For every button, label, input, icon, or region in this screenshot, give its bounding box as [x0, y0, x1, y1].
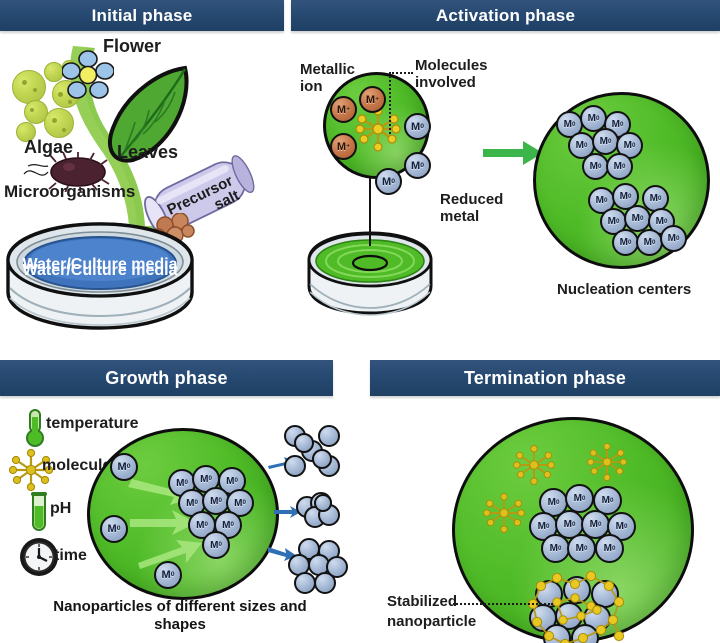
- precursor-salt-label: Precursor salt: [168, 170, 175, 171]
- reduced-metal-atom: M0: [660, 225, 687, 252]
- leaves-label: Leaves: [117, 142, 178, 162]
- molecules-involved-leader-horizontal: [389, 72, 413, 74]
- molecule-cluster-icon: [513, 444, 555, 486]
- molecule-cluster-icon: [587, 442, 627, 482]
- algae-label: Algae: [24, 137, 73, 157]
- legend-ph-label: pH: [50, 500, 71, 518]
- reduced-metal-atom: M0: [636, 229, 663, 256]
- reduced-metal-label: Reduced metal: [440, 192, 516, 226]
- reduced-metal-atom: M0: [100, 515, 128, 543]
- nanoparticle-subunit: [314, 494, 332, 512]
- nanoparticle-subunit: [314, 572, 336, 594]
- molecules-involved-label: Molecules involved: [415, 58, 525, 92]
- reduced-metal-atom: M0: [624, 205, 651, 232]
- metallic-ion-atom: M+: [330, 133, 357, 160]
- reduced-metal-atom: M0: [606, 153, 633, 180]
- capping-molecules-icon: [523, 568, 635, 643]
- reduced-metal-atom: M0: [375, 168, 402, 195]
- nanoparticle-subunit: [294, 572, 316, 594]
- panel-header-growth-phase-label: Growth phase: [105, 368, 227, 389]
- figure-canvas: Initial phase Activation phase Growth ph…: [0, 0, 720, 643]
- legend-time-label: time: [54, 547, 87, 565]
- nanoparticle-hexagonal-cluster: [288, 538, 346, 596]
- reduced-metal-atom: M0: [612, 229, 639, 256]
- panel-header-initial-phase-label: Initial phase: [92, 6, 193, 26]
- droplet-connector-stick: [369, 168, 371, 246]
- nanoparticle-star-cluster: [284, 425, 344, 477]
- reduced-metal-atom: M0: [567, 534, 596, 563]
- reduced-metal-atom: M0: [582, 153, 609, 180]
- nanoparticle-compact-cluster: [296, 492, 340, 530]
- reduced-metal-atom: M0: [404, 113, 431, 140]
- reduced-metal-atom: M0: [565, 484, 594, 513]
- panel-header-termination-phase: Termination phase: [370, 360, 720, 396]
- nanoparticle-subunit: [318, 425, 340, 447]
- nanoparticle-subunit: [312, 449, 332, 469]
- thermometer-icon: [25, 408, 45, 448]
- flower-label: Flower: [103, 36, 161, 56]
- molecules-involved-leader: [389, 72, 391, 134]
- green-droplet-icon: M0 M0 M0 M0 M0 M0 M0 M0 M0 M0: [452, 417, 694, 643]
- metallic-ion-atom: M+: [359, 86, 386, 113]
- panel-header-initial-phase: Initial phase: [0, 0, 284, 31]
- reduced-metal-atom: M0: [110, 453, 138, 481]
- metallic-ion-label: Metallic ion: [300, 62, 362, 96]
- molecule-cluster-icon: [483, 492, 525, 534]
- panel-header-activation-phase: Activation phase: [291, 0, 720, 31]
- reduced-metal-atom: M0: [592, 128, 619, 155]
- microorganisms-label: Microorganisms: [4, 182, 135, 201]
- nucleation-centers-circle: M0 M0 M0 M0 M0 M0 M0 M0 M0 M0 M0 M0 M0 M…: [533, 92, 710, 269]
- nucleation-centers-label: Nucleation centers: [557, 282, 691, 299]
- green-droplet-icon: M0 M0 M0 M0 M0 M0 M0 M0 M0 M0 M0 M0: [87, 428, 279, 600]
- reduced-metal-atom: M0: [541, 534, 570, 563]
- panel-header-growth-phase: Growth phase: [0, 360, 333, 396]
- reduced-metal-atom: M0: [202, 531, 230, 559]
- petri-dish-icon: Water/Culture media: [2, 222, 198, 332]
- reduced-metal-atom: M0: [404, 152, 431, 179]
- test-tube-icon: [30, 492, 48, 534]
- svg-text:Water/Culture media: Water/Culture media: [23, 256, 178, 273]
- stabilized-nanoparticle-leader: [453, 603, 553, 605]
- legend-temperature-label: temperature: [46, 415, 138, 433]
- nanoparticle-subunit: [284, 455, 306, 477]
- panel-header-activation-phase-label: Activation phase: [436, 6, 575, 26]
- stabilized-nanoparticle-icon: [529, 576, 635, 643]
- growth-phase-caption: Nanoparticles of different sizes and sha…: [30, 598, 330, 635]
- molecule-cluster-icon: [354, 105, 402, 153]
- metallic-ion-atom: M+: [330, 96, 357, 123]
- reduced-metal-atom: M0: [154, 561, 182, 589]
- nanoparticle-subunit: [294, 433, 314, 453]
- panel-header-termination-phase-label: Termination phase: [464, 368, 626, 389]
- stabilized-nanoparticle-label: Stabilized nanoparticle: [387, 592, 459, 631]
- reduced-metal-atom: M0: [595, 534, 624, 563]
